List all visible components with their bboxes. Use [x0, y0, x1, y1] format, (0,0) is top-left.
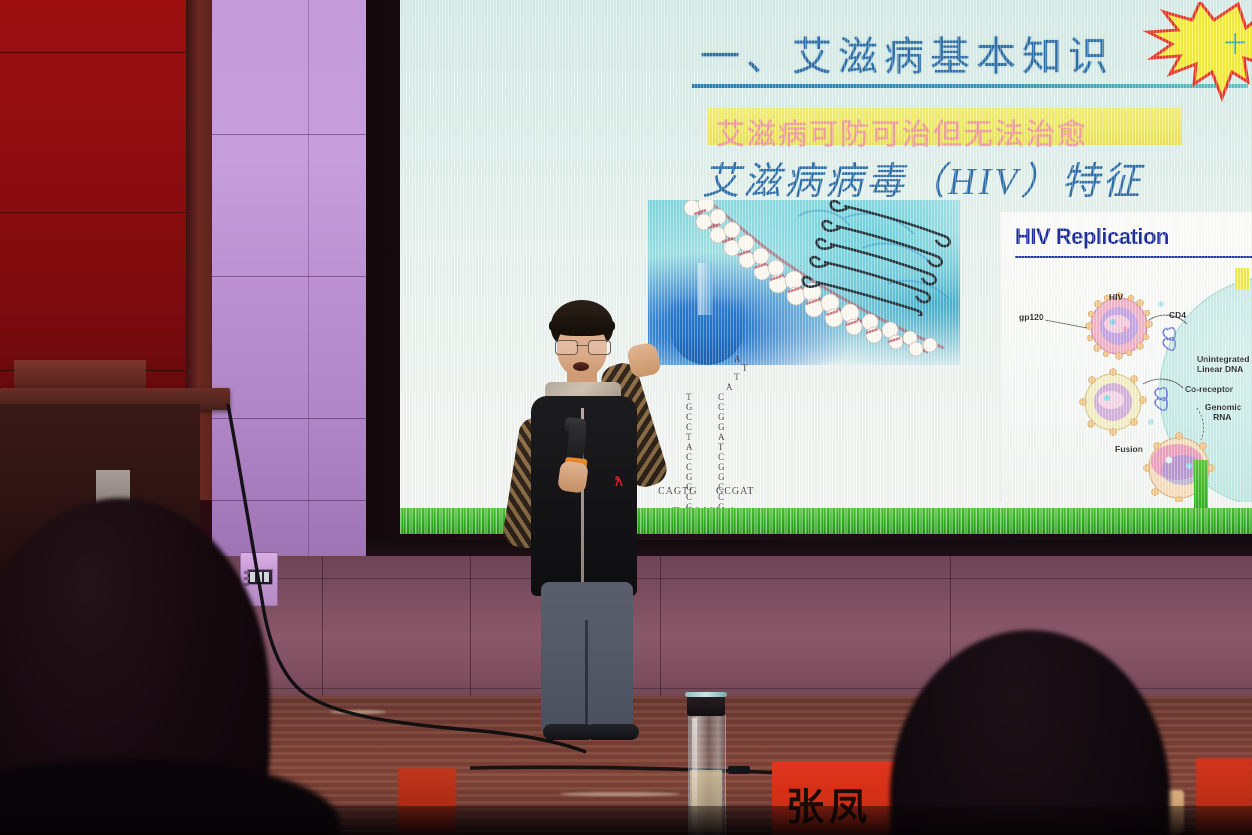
seq-footer-right: GCGAT	[716, 486, 754, 497]
seq-arc-2: T	[742, 363, 748, 373]
eyeglasses	[555, 340, 609, 354]
photo-canvas: 一、艾滋病基本知识 艾滋病可防可治但无法治愈 艾滋病病毒（HIV）特征 十	[0, 0, 1252, 835]
control-panel-button-2[interactable]	[244, 577, 249, 580]
hairpin-3	[817, 239, 936, 284]
presenter-bangs	[549, 314, 615, 336]
hiv-label-cd4: CD4	[1169, 310, 1186, 320]
hiv-label-rna: RNA	[1213, 412, 1231, 422]
red-ribbon-pin	[613, 476, 625, 488]
seq-arc-1: A	[734, 354, 741, 364]
hairpin-5	[803, 277, 922, 316]
seq-arc-3: T	[734, 372, 740, 382]
control-panel-button-3[interactable]	[244, 583, 249, 586]
hiv-label-fusion: Fusion	[1115, 444, 1143, 454]
slide-title: 一、艾滋病基本知识	[700, 24, 1114, 82]
starburst-label: 十	[1224, 32, 1246, 57]
control-panel-display	[247, 569, 273, 585]
presenter-shoe-left	[543, 724, 591, 740]
hiv-label-co-receptor: Co-receptor	[1185, 384, 1233, 394]
slide-highlight-text: 艾滋病可防可治但无法治愈	[716, 111, 1088, 153]
starburst-icon: 十	[1138, 2, 1252, 106]
control-panel-button-1[interactable]	[244, 571, 249, 574]
presenter-mouth	[573, 362, 589, 371]
grass-post	[1194, 460, 1208, 512]
foreground-blur-strip	[0, 806, 1252, 835]
hiv-label-genomic: Genomic	[1205, 402, 1241, 412]
trouser-seam	[585, 620, 588, 732]
hiv-label-linear-dna: Linear DNA	[1197, 364, 1243, 374]
hairpin-structures	[800, 196, 980, 316]
seq-arc-4: A	[726, 382, 733, 392]
presenter-figure	[505, 300, 695, 740]
hiv-replication-panel: HIV Replication	[1000, 212, 1252, 502]
presenter-shoe-right	[589, 724, 639, 740]
presenter-hand	[557, 460, 589, 494]
hiv-label-unintegrated: Unintegrated	[1197, 354, 1249, 364]
hiv-label-hiv: HIV	[1109, 292, 1123, 302]
hiv-label-gp120: gp120	[1019, 312, 1044, 322]
